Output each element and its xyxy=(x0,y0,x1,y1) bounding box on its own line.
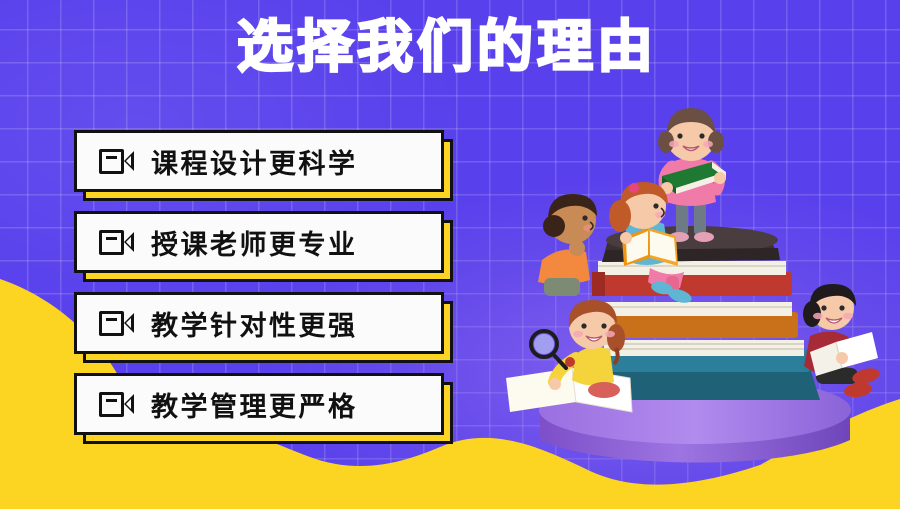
feature-item[interactable]: 授课老师更专业 xyxy=(74,211,444,273)
boy-orange-shirt xyxy=(538,194,597,296)
feature-label: 授课老师更专业 xyxy=(151,223,358,262)
video-camera-icon xyxy=(99,311,133,336)
feature-card[interactable]: 教学管理更严格 xyxy=(74,373,444,435)
feature-item[interactable]: 课程设计更科学 xyxy=(74,130,444,192)
feature-card[interactable]: 授课老师更专业 xyxy=(74,211,444,273)
boy-red-sweater xyxy=(803,284,881,399)
girl-standing-with-green-book xyxy=(658,108,726,242)
video-camera-icon xyxy=(99,392,133,417)
feature-label: 教学针对性更强 xyxy=(151,304,358,343)
page-title: 选择我们的理由 xyxy=(0,17,900,79)
feature-card[interactable]: 课程设计更科学 xyxy=(74,130,444,192)
feature-list: 课程设计更科学 授课老师更专业 教学针对性更强 xyxy=(74,130,454,454)
video-camera-icon xyxy=(99,230,133,255)
children-reading-illustration xyxy=(480,100,900,480)
feature-label: 课程设计更科学 xyxy=(151,142,358,181)
feature-label: 教学管理更严格 xyxy=(151,385,358,424)
video-camera-icon xyxy=(99,149,133,174)
feature-card[interactable]: 教学针对性更强 xyxy=(74,292,444,354)
feature-item[interactable]: 教学管理更严格 xyxy=(74,373,444,435)
magnifier-icon xyxy=(531,331,566,368)
second-book-red xyxy=(592,261,792,296)
feature-item[interactable]: 教学针对性更强 xyxy=(74,292,444,354)
promo-poster: 选择我们的理由 xyxy=(0,0,900,509)
